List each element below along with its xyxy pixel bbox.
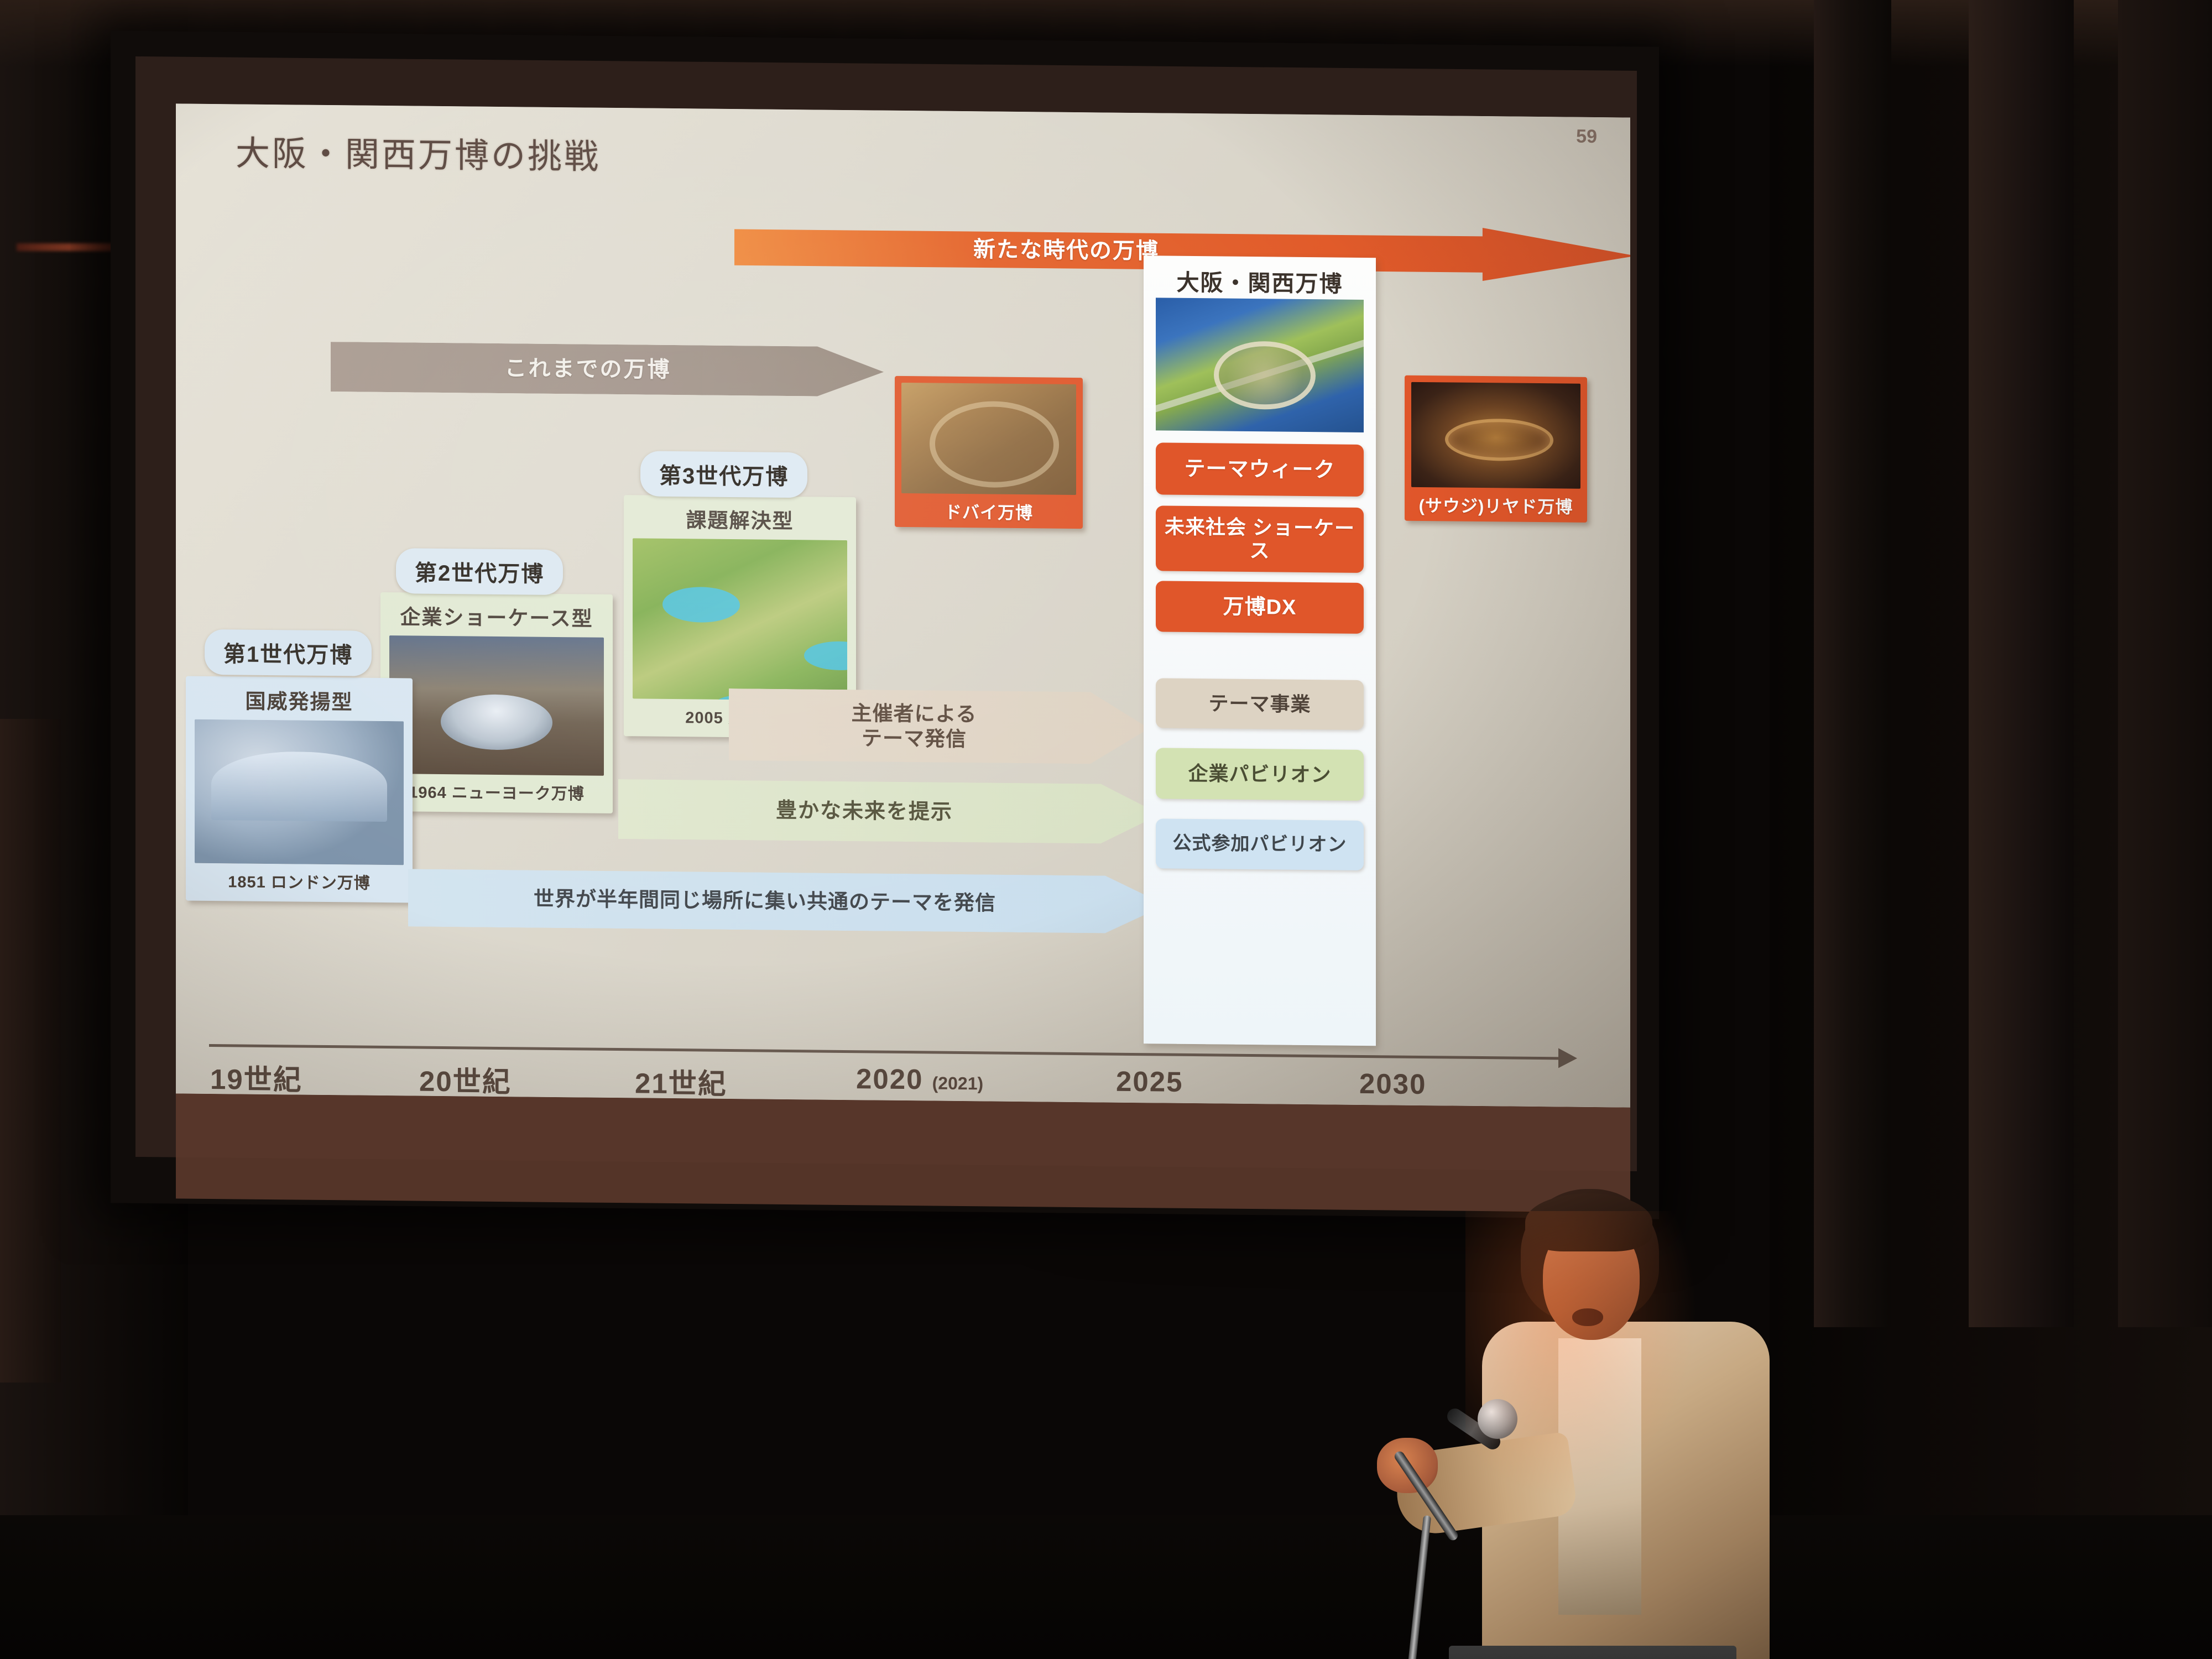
timeline-tick-20c: 20世紀	[419, 1058, 512, 1100]
presenter-mouth	[1572, 1308, 1603, 1326]
arrow-past-expos: これまでの万博	[331, 342, 884, 397]
hall-pillar	[1814, 0, 1891, 1327]
hall-side-panel	[0, 719, 61, 1383]
generation-card-2: 企業ショーケース型 1964 ニューヨーク万博	[380, 592, 613, 813]
expo-card-dubai: ドバイ万博	[895, 376, 1083, 529]
expo-card-riyadh: (サウジ)リヤド万博	[1405, 375, 1587, 523]
arrow-rich-future: 豊かな未来を提示	[618, 779, 1160, 844]
generation-pill-3: 第3世代万博	[640, 451, 807, 498]
auditorium-scene: 大阪・関西万博の挑戦 59 これまでの万博 新たな時代の万博 第3世代万博 課題…	[0, 0, 2212, 1659]
podium	[1449, 1646, 1736, 1659]
expo-card-dubai-caption: ドバイ万博	[901, 498, 1076, 524]
arrow-rich-future-label: 豊かな未来を提示	[776, 798, 953, 825]
expo-photo-london	[195, 719, 404, 865]
arrow-common-theme: 世界が半年間同じ場所に集い共通のテーマを発信	[408, 869, 1166, 933]
generation-pill-2: 第2世代万博	[396, 548, 563, 595]
generation-pill-1: 第1世代万博	[205, 629, 372, 676]
generation-type-1: 国威発揚型	[195, 684, 404, 716]
arrow-past-expos-label: これまでの万博	[505, 355, 671, 384]
osaka-kansai-expo-title: 大阪・関西万博	[1144, 263, 1376, 299]
osaka-kansai-expo-column: 大阪・関西万博 テーマウィーク 未来社会 ショーケース 万博DX テーマ事業 企…	[1144, 255, 1376, 1046]
chip-future-society-showcase: 未来社会 ショーケース	[1156, 505, 1364, 573]
timeline-tick-2025: 2025	[1116, 1065, 1183, 1098]
generation-caption-2: 1964 ニューヨーク万博	[389, 779, 604, 805]
arrow-common-theme-label: 世界が半年間同じ場所に集い共通のテーマを発信	[534, 886, 996, 916]
timeline-arrowhead-icon	[1558, 1048, 1577, 1068]
timeline-tick-2030: 2030	[1359, 1067, 1426, 1100]
timeline-tick-2020-year: 2020	[856, 1063, 923, 1095]
generation-caption-1: 1851 ロンドン万博	[195, 869, 404, 894]
expo-card-riyadh-caption: (サウジ)リヤド万博	[1411, 492, 1580, 518]
expo-photo-dubai	[901, 383, 1076, 495]
hall-pillar	[2118, 0, 2212, 1327]
timeline-tick-21c: 21世紀	[635, 1060, 727, 1102]
presenter-hair-fringe	[1525, 1193, 1652, 1251]
presenter	[1283, 1178, 1924, 1659]
chip-theme-week: テーマウィーク	[1156, 442, 1364, 497]
generation-card-1: 国威発揚型 1851 ロンドン万博	[186, 676, 413, 903]
arrow-theme-dissemination-label: 主催者による テーマ発信	[852, 701, 977, 752]
chip-corporate-pavilion: 企業パビリオン	[1156, 748, 1364, 801]
chip-official-participant-pavilion: 公式参加パビリオン	[1156, 818, 1364, 870]
expo-photo-newyork	[389, 635, 604, 776]
arrow-theme-dissemination: 主催者による テーマ発信	[729, 688, 1149, 764]
generation-type-2: 企業ショーケース型	[389, 600, 604, 632]
page-title: 大阪・関西万博の挑戦	[236, 125, 601, 178]
presentation-slide: 大阪・関西万博の挑戦 59 これまでの万博 新たな時代の万博 第3世代万博 課題…	[176, 103, 1630, 1107]
timeline-tick-19c: 19世紀	[210, 1056, 302, 1098]
timeline-tick-2020-sub: (2021)	[932, 1073, 984, 1094]
expo-photo-aichi	[633, 538, 847, 701]
hall-pillar	[1969, 0, 2074, 1327]
timeline-tick-2020: 2020 (2021)	[856, 1062, 983, 1096]
expo-photo-osaka-yumeshima	[1156, 298, 1364, 432]
arrow-new-era-label: 新たな時代の万博	[973, 236, 1159, 265]
stage-light-streak	[17, 243, 122, 251]
microphone-icon	[1478, 1399, 1517, 1439]
chip-expo-dx: 万博DX	[1156, 581, 1364, 634]
chip-theme-project: テーマ事業	[1156, 678, 1364, 730]
generation-type-3: 課題解決型	[633, 503, 847, 535]
expo-photo-riyadh	[1411, 382, 1580, 489]
microphone-stand	[1408, 1515, 1431, 1659]
slide-page-number: 59	[1576, 126, 1597, 148]
